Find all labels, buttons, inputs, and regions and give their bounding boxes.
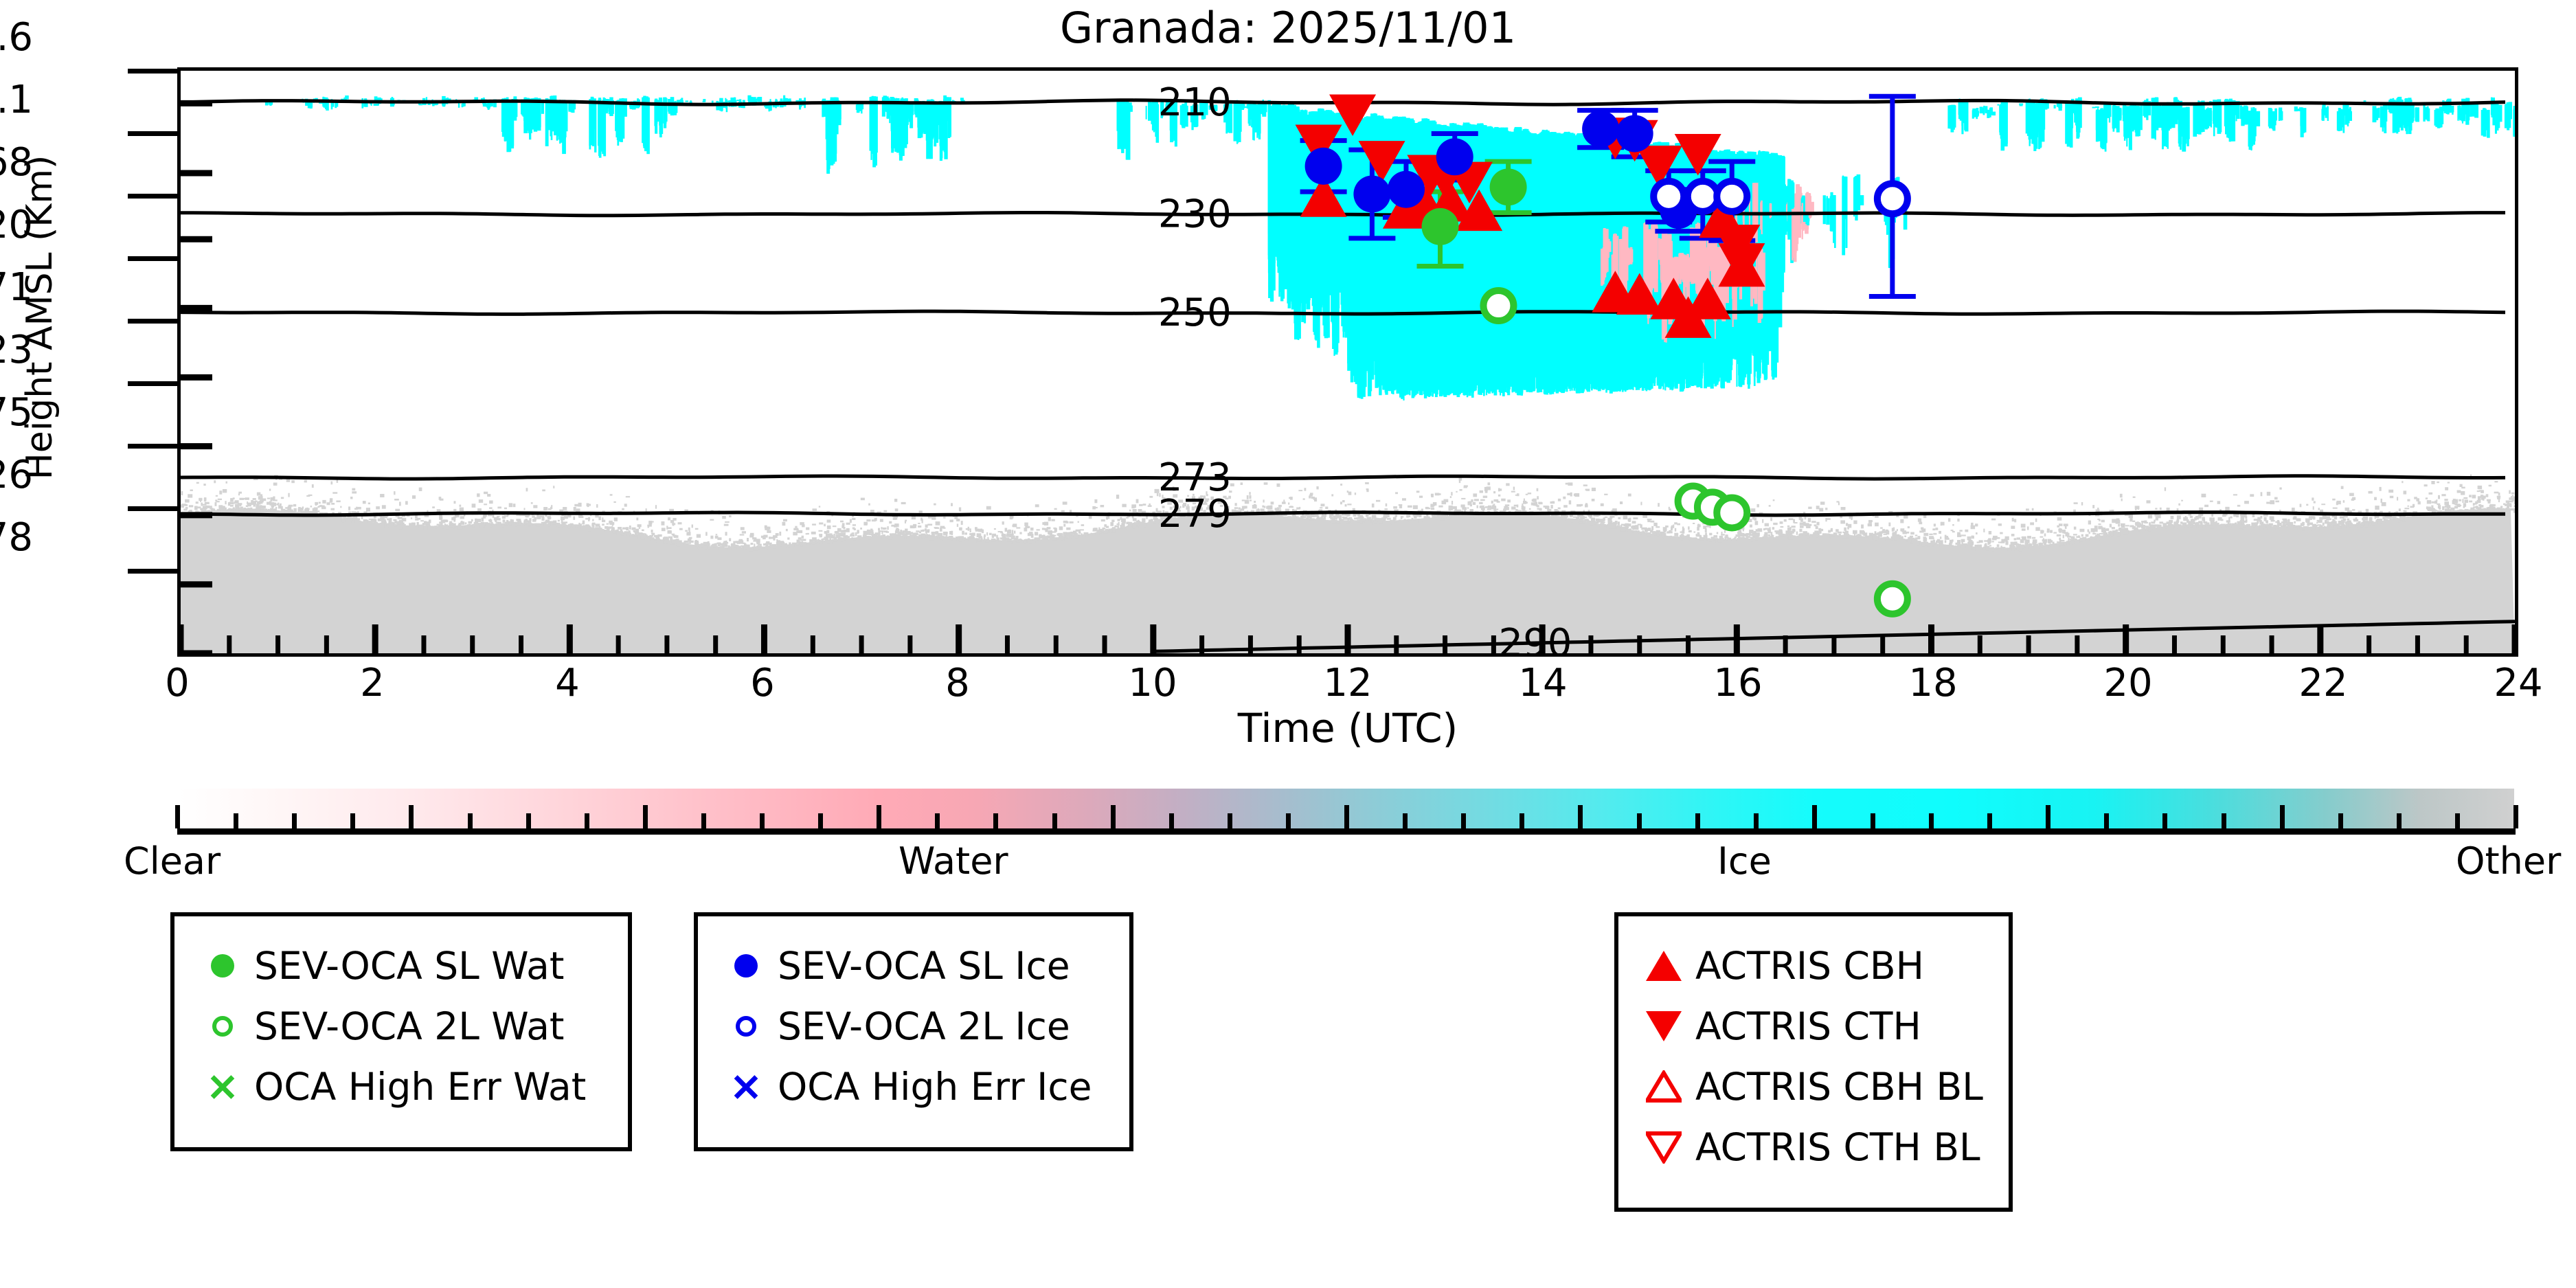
legend-label: OCA High Err Ice — [778, 1068, 1092, 1106]
x-tick-label: 10 — [1084, 661, 1221, 705]
x-tick-label: 16 — [1669, 661, 1807, 705]
filled-circle-icon — [714, 954, 778, 978]
open-circle-icon — [714, 1016, 778, 1037]
colorbar-tick — [2513, 805, 2518, 828]
legend-item[interactable]: ACTRIS CTH BL — [1632, 1117, 2009, 1177]
colorbar-tick — [1519, 813, 1524, 828]
colorbar-tick — [1344, 805, 1349, 828]
y-tick-mark — [128, 569, 177, 574]
y-tick-mark — [128, 256, 177, 261]
colorbar-tick — [2338, 813, 2343, 828]
y-tick-label: 9.68 — [0, 140, 33, 185]
colorbar-tick — [1286, 813, 1291, 828]
x-tick-label: 12 — [1279, 661, 1416, 705]
legend-item[interactable]: SEV-OCA SL Wat — [191, 936, 628, 996]
ice-legend[interactable]: SEV-OCA SL Ice SEV-OCA 2L Ice OCA High E… — [694, 912, 1133, 1151]
open-circle-marker — [1653, 181, 1684, 212]
open-circle-marker — [1688, 181, 1718, 212]
y-tick-label: 12.6 — [0, 15, 33, 60]
open-circle-marker — [1717, 497, 1747, 528]
legend-label: SEV-OCA SL Wat — [254, 947, 564, 985]
colorbar-label-other: Other — [2456, 839, 2561, 883]
colorbar-tick — [1637, 813, 1642, 828]
page-title: Granada: 2025/11/01 — [0, 3, 2576, 53]
x-tick-label: 20 — [2059, 661, 2197, 705]
open-circle-marker — [1483, 291, 1513, 321]
colorbar-tick — [2280, 805, 2285, 828]
legend-label: ACTRIS CBH — [1695, 947, 1924, 985]
open-triangle-down-icon — [1632, 1131, 1695, 1164]
y-tick-mark — [128, 194, 177, 199]
colorbar-tick — [2222, 813, 2226, 828]
legend-label: SEV-OCA SL Ice — [778, 947, 1070, 985]
colorbar-tick — [1812, 805, 1817, 828]
x-tick-label: 2 — [304, 661, 441, 705]
filled-triangle-up-icon — [1632, 951, 1695, 981]
legend-item[interactable]: SEV-OCA SL Ice — [714, 936, 1129, 996]
open-circle-marker — [1877, 584, 1908, 614]
colorbar-tick — [585, 813, 589, 828]
legend-label: ACTRIS CTH — [1695, 1008, 1921, 1046]
legend-label: OCA High Err Wat — [254, 1068, 586, 1106]
legend-item[interactable]: SEV-OCA 2L Wat — [191, 996, 628, 1057]
colorbar-tick — [1578, 805, 1583, 828]
legend-label: SEV-OCA 2L Wat — [254, 1008, 565, 1046]
colorbar-tick — [2104, 813, 2109, 828]
colorbar-tick — [1403, 813, 1408, 828]
open-circle-marker — [1717, 181, 1747, 212]
colorbar-tick — [526, 813, 531, 828]
y-tick-mark — [128, 131, 177, 136]
legend-item[interactable]: ACTRIS CBH BL — [1632, 1057, 2009, 1117]
y-tick-mark — [128, 506, 177, 511]
x-axis-label: Time (UTC) — [177, 705, 2518, 752]
plot-canvas: 210230250273279290 — [181, 71, 2515, 653]
filled-circle-marker — [1353, 175, 1390, 212]
legend-label: ACTRIS CBH BL — [1695, 1068, 1983, 1106]
x-tick-label: 14 — [1474, 661, 1612, 705]
open-triangle-up-icon — [1632, 1070, 1695, 1103]
colorbar-tick — [643, 805, 648, 828]
colorbar-tick — [1228, 813, 1232, 828]
colorbar-tick — [935, 813, 940, 828]
y-tick-mark — [128, 444, 177, 449]
colorbar-tick — [1929, 813, 1934, 828]
filled-circle-marker — [1422, 208, 1459, 245]
colorbar-tick — [468, 813, 473, 828]
colorbar-tick — [1052, 813, 1057, 828]
filled-circle-icon — [191, 954, 254, 978]
colorbar-tick — [1987, 813, 1992, 828]
colorbar-tick — [2162, 813, 2167, 828]
legend-item[interactable]: OCA High Err Ice — [714, 1057, 1129, 1117]
filled-circle-marker — [1305, 148, 1342, 185]
actris-legend[interactable]: ACTRIS CBH ACTRIS CTH ACTRIS CBH BL ACTR… — [1614, 912, 2013, 1212]
legend-item[interactable]: ACTRIS CBH — [1632, 936, 2009, 996]
y-tick-mark — [128, 381, 177, 386]
colorbar-tick — [993, 813, 998, 828]
legend-item[interactable]: ACTRIS CTH — [1632, 996, 2009, 1057]
legend-item[interactable]: OCA High Err Wat — [191, 1057, 628, 1117]
plot-area[interactable]: 210230250273279290 — [177, 67, 2518, 657]
legend-label: SEV-OCA 2L Ice — [778, 1008, 1070, 1046]
colorbar-tick — [1871, 813, 1875, 828]
colorbar-label-water: Water — [899, 839, 1008, 883]
cross-icon — [714, 1072, 778, 1101]
filled-triangle-down-icon — [1632, 1011, 1695, 1041]
y-tick-label: 3.75 — [0, 390, 33, 435]
y-tick-label: 8.20 — [0, 203, 33, 247]
x-tick-label: 0 — [109, 661, 246, 705]
y-tick-label: 6.71 — [0, 265, 33, 310]
y-tick-label: 2.26 — [0, 453, 33, 497]
open-circle-marker — [1877, 183, 1908, 214]
y-tick-mark — [128, 319, 177, 324]
colorbar-tick — [350, 813, 355, 828]
x-tick-label: 24 — [2450, 661, 2576, 705]
colorbar-tick — [877, 805, 881, 828]
colorbar-tick — [701, 813, 706, 828]
filled-circle-marker — [1490, 168, 1527, 205]
colorbar-label-clear: Clear — [124, 839, 221, 883]
x-tick-label: 22 — [2255, 661, 2392, 705]
colorbar-label-ice: Ice — [1717, 839, 1772, 883]
colorbar-tick — [234, 813, 238, 828]
filled-circle-marker — [1436, 138, 1473, 175]
y-tick-label: 11.1 — [0, 78, 33, 122]
colorbar-tick — [1169, 813, 1174, 828]
colorbar-tick — [818, 813, 823, 828]
colorbar-tick — [1754, 813, 1759, 828]
colorbar-tick — [1695, 813, 1700, 828]
y-tick-label: 0.78 — [0, 515, 33, 560]
legend-item[interactable]: SEV-OCA 2L Ice — [714, 996, 1129, 1057]
colorbar-tick — [1111, 805, 1116, 828]
legend-label: ACTRIS CTH BL — [1695, 1129, 1980, 1166]
filled-circle-marker — [1582, 111, 1619, 148]
water-legend[interactable]: SEV-OCA SL Wat SEV-OCA 2L Wat OCA High E… — [170, 912, 632, 1151]
x-tick-label: 4 — [499, 661, 636, 705]
filled-circle-marker — [1388, 171, 1425, 208]
cross-icon — [191, 1072, 254, 1101]
colorbar-tick — [409, 805, 414, 828]
x-tick-label: 18 — [1864, 661, 2002, 705]
open-circle-icon — [191, 1016, 254, 1037]
colorbar-tick — [2046, 805, 2050, 828]
colorbar-tick — [2397, 813, 2402, 828]
colorbar-tick — [175, 805, 180, 828]
figure-root: Granada: 2025/11/01 Height AMSL (Km) 12.… — [0, 0, 2576, 1288]
colorbar-tick — [2455, 813, 2460, 828]
filled-circle-marker — [1616, 115, 1653, 152]
colorbar-tick — [292, 813, 297, 828]
y-tick-mark — [128, 69, 177, 74]
colorbar-axis — [177, 828, 2516, 835]
colorbar-tick — [1461, 813, 1466, 828]
colorbar-tick — [760, 813, 765, 828]
x-tick-label: 6 — [694, 661, 831, 705]
x-tick-label: 8 — [889, 661, 1026, 705]
y-tick-label: 5.23 — [0, 328, 33, 372]
